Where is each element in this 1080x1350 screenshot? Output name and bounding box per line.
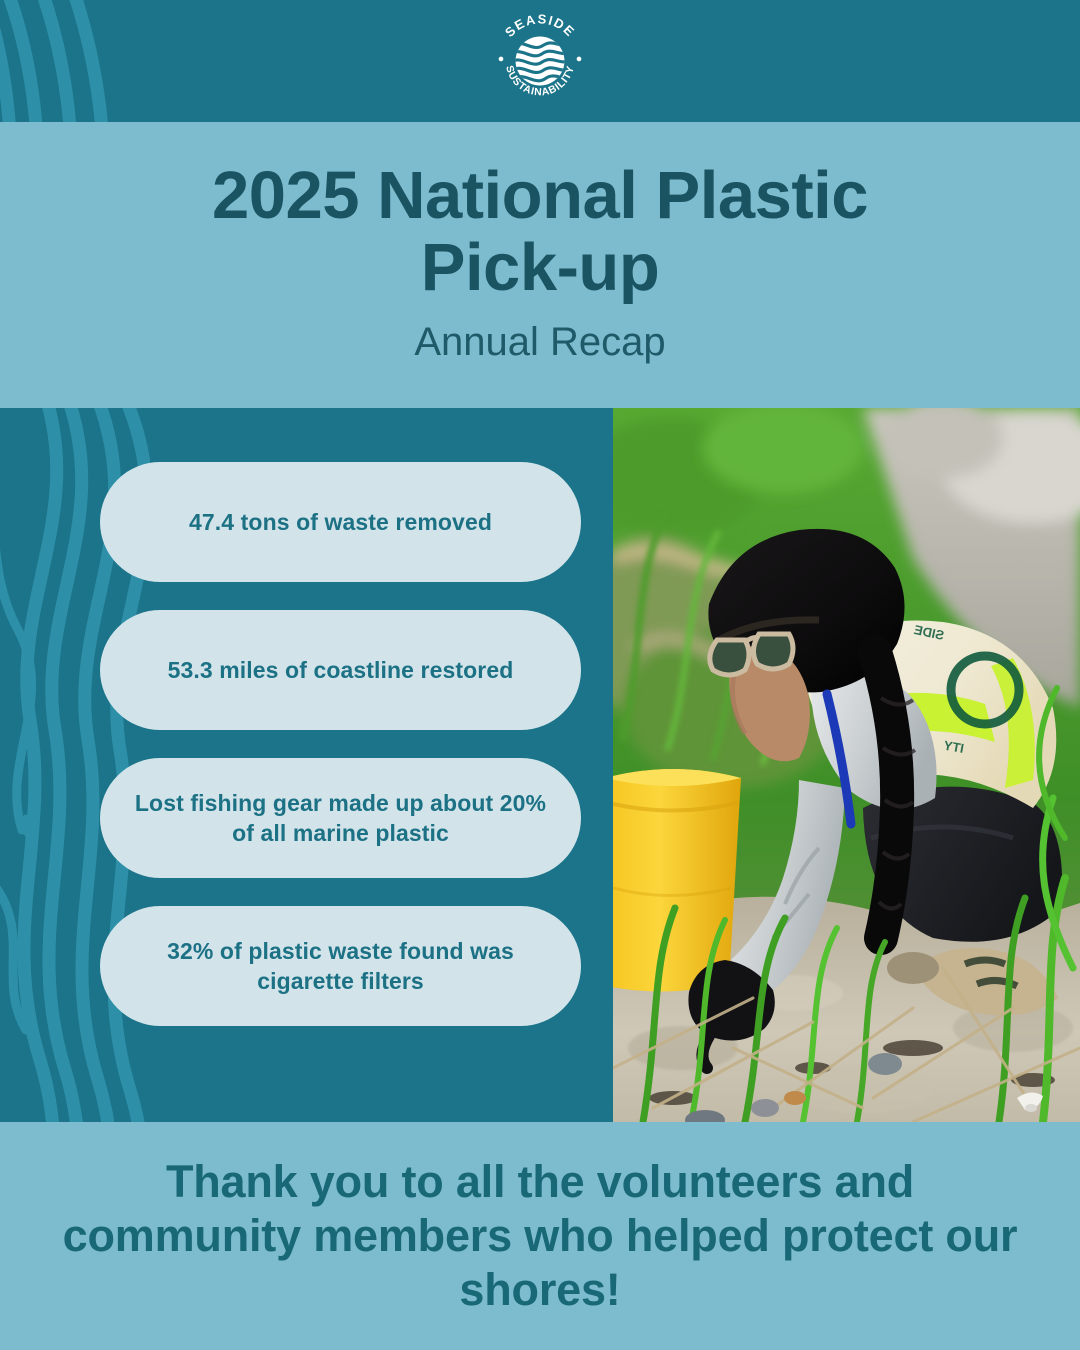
main-body: 47.4 tons of waste removed 53.3 miles of… (0, 408, 1080, 1122)
stat-pill: Lost fishing gear made up about 20% of a… (100, 758, 581, 878)
volunteer-beach-cleanup-photo: SIDE ITY (613, 408, 1080, 1122)
stat-pill-label: 32% of plastic waste found was cigarette… (134, 936, 547, 997)
footer-band: Thank you to all the volunteers and comm… (0, 1122, 1080, 1350)
stat-pill: 32% of plastic waste found was cigarette… (100, 906, 581, 1026)
stat-pill-label: 47.4 tons of waste removed (189, 507, 492, 537)
svg-text:SEASIDE: SEASIDE (502, 11, 578, 40)
page-subtitle: Annual Recap (414, 320, 665, 364)
stat-pill: 53.3 miles of coastline restored (100, 610, 581, 730)
thank-you-message: Thank you to all the volunteers and comm… (56, 1155, 1024, 1317)
top-logo-strip: SEASIDE SUSTAINABILITY (0, 0, 1080, 122)
stat-pill: 47.4 tons of waste removed (100, 462, 581, 582)
stat-pill-list: 47.4 tons of waste removed 53.3 miles of… (100, 462, 581, 1026)
page-title: 2025 National Plastic Pick-up (135, 160, 945, 305)
stat-pill-label: 53.3 miles of coastline restored (168, 655, 514, 685)
poster-canvas: SEASIDE SUSTAINABILITY 2025 National Pla… (0, 0, 1080, 1350)
seaside-sustainability-logo: SEASIDE SUSTAINABILITY (488, 9, 592, 113)
stat-pill-label: Lost fishing gear made up about 20% of a… (134, 788, 547, 849)
header-band: 2025 National Plastic Pick-up Annual Rec… (0, 122, 1080, 408)
